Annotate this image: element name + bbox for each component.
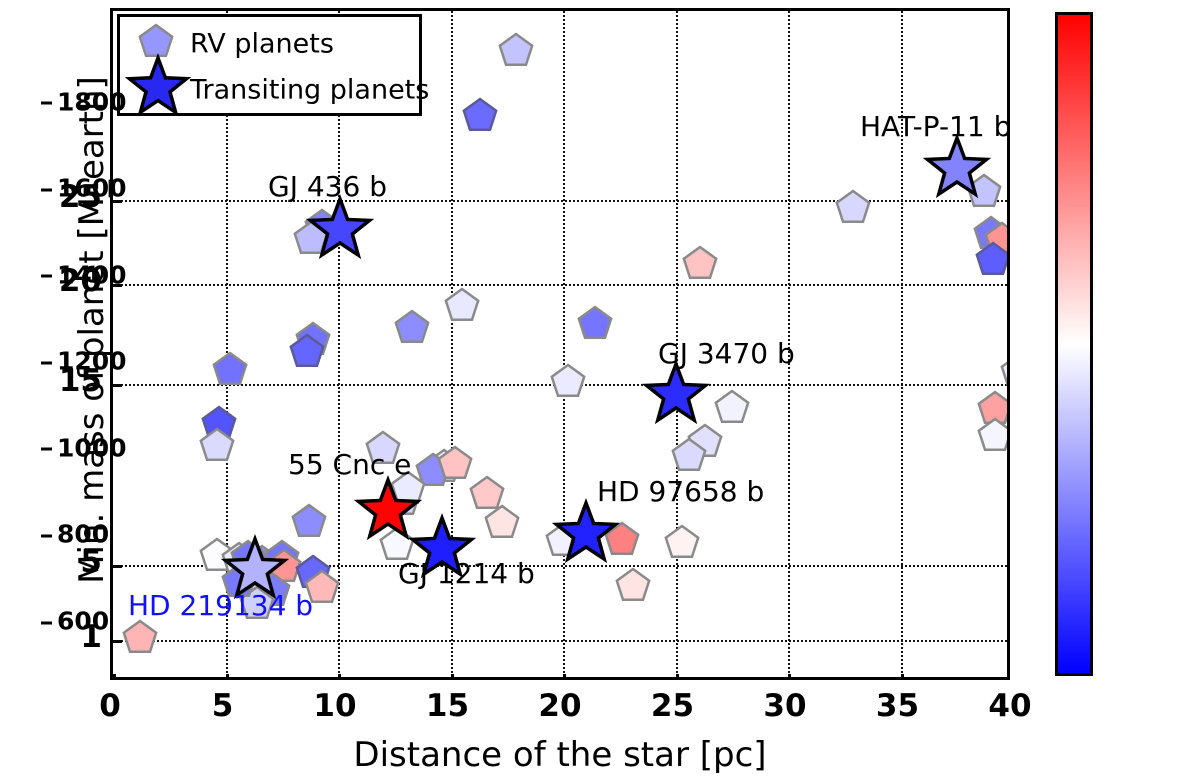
annotation-label: HD 219134 b xyxy=(128,589,313,622)
x-tick-mark xyxy=(788,674,791,677)
chart-figure: Min. mass of planet [M_earth] Distance o… xyxy=(0,0,1200,779)
annotation-label: GJ 1214 b xyxy=(398,557,535,590)
x-tick-mark xyxy=(338,674,341,677)
annotation-label: 55 Cnc e xyxy=(288,448,411,481)
x-tick-label: 5 xyxy=(212,688,234,724)
x-tick-label: 35 xyxy=(876,688,919,724)
colorbar-tick-label: 1600 xyxy=(41,174,127,203)
legend: RV planets Transiting planets xyxy=(117,14,422,116)
scatter-point-rv xyxy=(493,28,538,73)
gridline-horizontal xyxy=(113,640,1007,642)
x-tick-mark xyxy=(676,674,679,677)
x-tick-mark xyxy=(563,674,566,677)
scatter-point-rv xyxy=(284,330,329,375)
scatter-point-rv xyxy=(480,501,525,546)
x-axis-label: Distance of the star [pc] xyxy=(110,735,1010,775)
colorbar-tick-label: 1400 xyxy=(41,260,127,289)
x-tick-label: 10 xyxy=(313,688,356,724)
scatter-point-rv xyxy=(194,423,239,468)
gridline-horizontal xyxy=(113,284,1007,286)
colorbar-tick-label: 1200 xyxy=(41,347,127,376)
y-tick-mark xyxy=(113,384,122,387)
y-tick-label: 5 xyxy=(40,544,102,580)
colorbar xyxy=(1055,12,1093,676)
annotation-label: HD 97658 b xyxy=(597,475,764,508)
legend-label-transiting: Transiting planets xyxy=(190,74,429,105)
scatter-point-rv xyxy=(390,306,435,351)
colorbar-gradient xyxy=(1058,15,1090,673)
scatter-point-rv xyxy=(118,616,163,661)
x-tick-label: 0 xyxy=(99,688,121,724)
x-tick-mark xyxy=(901,674,904,677)
colorbar-tick-label: 1800 xyxy=(41,87,127,116)
colorbar-tick-label: 1000 xyxy=(41,433,127,462)
x-tick-label: 25 xyxy=(651,688,694,724)
scatter-point-rv xyxy=(457,93,502,138)
scatter-point-rv xyxy=(572,302,617,347)
legend-item-transiting: Transiting planets xyxy=(120,64,419,115)
x-tick-mark xyxy=(113,674,116,677)
scatter-point-rv xyxy=(667,434,712,479)
annotation-label: HAT-P-11 b xyxy=(860,110,1011,143)
scatter-point-transiting xyxy=(303,193,378,268)
gridline-vertical xyxy=(563,11,565,677)
x-tick-mark xyxy=(451,674,454,677)
scatter-point-rv xyxy=(970,238,1007,283)
annotation-label: GJ 3470 b xyxy=(658,337,795,370)
x-tick-label: 30 xyxy=(763,688,806,724)
legend-label-rv: RV planets xyxy=(190,28,334,59)
scatter-point-rv xyxy=(208,348,253,393)
x-tick-label: 20 xyxy=(538,688,581,724)
star-icon xyxy=(130,66,186,114)
colorbar-tick-label: 600 xyxy=(41,607,109,636)
scatter-point-rv xyxy=(545,360,590,405)
x-tick-label: 15 xyxy=(426,688,469,724)
scatter-point-rv xyxy=(678,241,723,286)
colorbar-tick-label: 800 xyxy=(41,520,109,549)
annotation-label: GJ 436 b xyxy=(268,170,387,203)
scatter-point-rv xyxy=(660,521,705,566)
scatter-point-rv xyxy=(973,414,1008,459)
x-tick-label: 40 xyxy=(988,688,1031,724)
x-tick-mark xyxy=(226,674,229,677)
scatter-point-rv xyxy=(831,186,876,231)
scatter-point-rv xyxy=(439,284,484,329)
y-tick-mark xyxy=(113,565,122,568)
